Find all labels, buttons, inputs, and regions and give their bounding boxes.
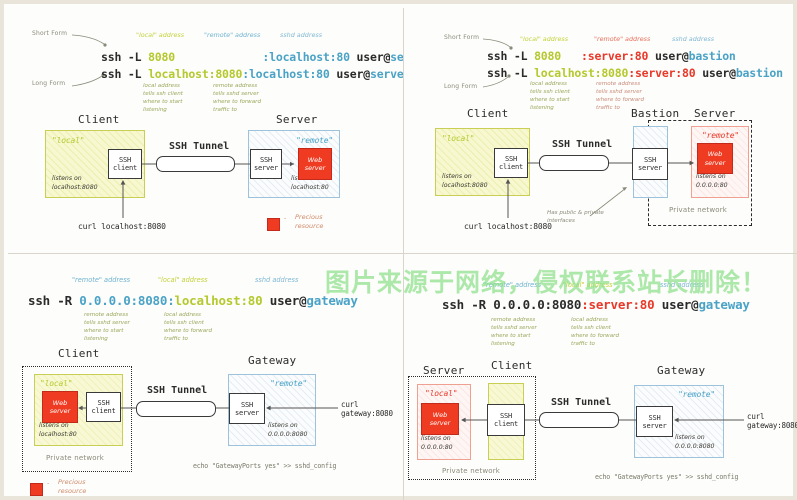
cmd-userat: user@ [350,50,390,64]
curl-command: curl gateway:8080 [747,412,797,430]
box-ssh-client: SSH client [494,148,528,178]
zone-label-remote: "remote" [270,379,307,388]
box-web-server-label: Web server [50,399,71,415]
curl-command: curl gateway:8080 [341,400,393,418]
diagram-sheet: Short Form Long Form "local" address "re… [4,4,793,496]
header-remote-address: "remote" address [483,281,541,291]
box-web-server-label: Web server [430,411,451,427]
zone-listen-remote: listens on 0.0.0.0:8080 [268,422,307,439]
tunnel-label: SSH Tunnel [551,397,611,408]
header-remote-address: "remote" address [594,35,650,44]
legend: - Precious resource [30,479,43,498]
node-title-client: Client [78,113,120,126]
header-local-address: "local" address [563,281,613,291]
box-ssh-client-label: SSH client [91,399,115,415]
zone-label-remote: "remote" [296,136,333,145]
gateway-ports-config-note: echo "GatewayPorts yes" >> sshd_config [595,473,738,481]
short-form-label: Short Form [444,34,479,42]
zone-label-local: "local" [40,379,72,388]
panel-divider-horizontal [8,253,797,254]
header-sshd-address: sshd address [255,276,298,286]
tunnel-label: SSH Tunnel [147,385,207,396]
node-title-server: Server [694,107,736,120]
zone-listen-local: listens on localhost:8080 [52,175,98,192]
annotation-remote-address: remote address tells sshd server where t… [84,311,130,343]
command-long-form: ssh -L localhost:8080:server:80 user@bas… [487,66,783,80]
box-web-server-label: Web server [705,150,726,166]
ssh-tunnel-pipe [156,156,235,172]
cmd-host: gateway [306,293,357,308]
box-ssh-client-label: SSH client [494,412,518,428]
annotation-local-address: local address tells ssh client where to … [164,311,212,343]
node-title-gateway: Gateway [657,364,705,377]
panel-divider-vertical [403,8,404,500]
cmd-remote: :server:80 [581,49,648,63]
cmd-host: server [390,50,403,64]
cmd-sep: : [581,297,588,312]
annotation-remote-address: remote address tells sshd server where t… [491,316,537,348]
box-web-server: Web server [42,391,78,423]
private-network-label: Private network [442,467,500,476]
ssh-tunnel-pipe [136,401,216,417]
cmd-gap [175,50,262,64]
cmd-remote: :localhost:80 [242,67,329,81]
header-remote-address: "remote" address [204,31,260,40]
panel-remote-forward-private-server: "remote" address "local" address sshd ad… [404,254,797,500]
cmd-local: localhost:8080 [534,66,628,80]
ssh-tunnel-pipe [539,155,609,171]
zone-listen-local: listens on localhost:8080 [442,173,488,190]
legend-label-line2: resource [58,487,86,496]
cmd-prefix: ssh -L [487,66,534,80]
annotation-local-address: local address tells ssh client where to … [530,80,570,112]
legend-swatch-precious-resource [30,483,43,496]
private-network-label: Private network [669,206,727,215]
cmd-local: localhost:8080 [148,67,242,81]
legend-dash: - [47,479,49,488]
box-ssh-client-label: SSH client [113,156,137,172]
zone-listen-remote: listens on 0.0.0.0:80 [696,173,728,190]
box-ssh-client: SSH client [487,404,525,436]
short-form-label: Short Form [32,30,67,38]
cmd-userat: user@ [262,293,306,308]
private-network-label: Private network [46,454,104,463]
cmd-local: server:80 [589,297,655,312]
long-form-label: Long Form [32,80,65,88]
node-title-client: Client [467,107,509,120]
cmd-userat: user@ [330,67,370,81]
gateway-ports-config-note: echo "GatewayPorts yes" >> sshd_config [193,462,336,470]
header-local-address: "local" address [520,35,568,44]
cmd-prefix: ssh -L [101,50,148,64]
box-web-server-label: Web server [305,156,326,172]
cmd-sep: : [167,293,174,308]
zone-label-local: "local" [425,389,457,398]
legend: - Precious resource [267,214,280,233]
panel-local-forward-bastion: Short Form Long Form "local" address "re… [404,8,797,253]
box-ssh-server: SSH server [250,149,282,179]
box-ssh-client: SSH client [86,392,121,422]
node-title-server: Server [276,113,318,126]
annotation-local-address: local address tells ssh client where to … [143,82,183,114]
cmd-host: gateway [698,297,749,312]
cmd-prefix: ssh -L [487,49,534,63]
tunnel-label: SSH Tunnel [552,139,612,150]
command-short-form: ssh -L 8080 :localhost:80 user@server [101,50,403,64]
cmd-local: 8080 [534,49,561,63]
annotation-remote-address: remote address tells sshd server where t… [213,82,261,114]
cmd-userat: user@ [654,297,698,312]
command-short-form: ssh -L 8080 [487,49,561,63]
box-web-server: Web server [697,143,733,174]
bastion-note: Has public & private interfaces [547,209,604,225]
header-sshd-address: sshd address [672,35,714,44]
cmd-prefix: ssh -L [101,67,148,81]
cmd-remote: 0.0.0.0:8080 [79,293,167,308]
zone-label-remote: "remote" [702,131,739,140]
command-remote-forward: ssh -R 0.0.0.0:8080:localhost:80 user@ga… [28,293,358,308]
zone-label-local: "local" [442,134,474,143]
cmd-userat: user@ [695,66,735,80]
cmd-local: localhost:80 [175,293,263,308]
cmd-host: server [370,67,403,81]
header-local-address: "local" address [136,31,184,40]
legend-swatch-precious-resource [267,218,280,231]
long-form-label: Long Form [444,83,477,91]
box-ssh-server: SSH server [636,406,673,437]
header-remote-address: "remote" address [72,276,130,286]
cmd-host: bastion [689,49,736,63]
cmd-local: 8080 [148,50,175,64]
curl-command: curl localhost:8080 [464,222,552,231]
panel-remote-forward-basic: "remote" address "local" address sshd ad… [8,254,403,500]
box-ssh-server-label: SSH server [254,156,278,172]
cmd-remote: 0.0.0.0:8080 [493,297,581,312]
box-ssh-server-label: SSH server [235,401,259,417]
header-sshd-address: sshd address [280,31,322,40]
command-long-form: ssh -L localhost:8080:localhost:80 user@… [101,67,403,81]
zone-listen-remote: listens on 0.0.0.0:8080 [675,434,714,451]
header-sshd-address: sshd address [660,281,703,291]
command-short-form-tail: :server:80 user@bastion [581,49,736,63]
node-title-client: Client [491,359,533,372]
legend-label-line1: Precious [295,213,322,222]
cmd-remote: :server:80 [628,66,695,80]
zone-label-local: "local" [52,136,84,145]
node-title-gateway: Gateway [248,354,296,367]
box-ssh-server: SSH server [632,148,668,180]
annotation-local-address: local address tells ssh client where to … [571,316,619,348]
header-local-address: "local" address [158,276,208,286]
legend-label-line2: resource [295,222,323,231]
command-remote-forward: ssh -R 0.0.0.0:8080:server:80 user@gatew… [442,297,750,312]
box-ssh-server-label: SSH server [642,414,666,430]
box-ssh-client: SSH client [108,149,142,179]
box-ssh-server: SSH server [229,393,265,424]
cmd-userat: user@ [648,49,688,63]
cmd-remote: :localhost:80 [262,50,349,64]
box-web-server: Web server [298,148,332,180]
zone-label-remote: "remote" [678,390,715,399]
legend-label-line1: Precious [58,478,85,487]
curl-command: curl localhost:8080 [78,222,166,231]
box-ssh-client-label: SSH client [499,155,523,171]
zone-listen-local: listens on localhost:80 [39,422,77,439]
tunnel-label: SSH Tunnel [169,141,229,152]
cmd-prefix: ssh -R [442,297,493,312]
zone-listen-local: listens on 0.0.0.0:80 [421,435,453,452]
legend-dash: - [284,214,286,223]
cmd-prefix: ssh -R [28,293,79,308]
cmd-host: bastion [736,66,783,80]
node-title-bastion: Bastion [631,107,679,120]
ssh-tunnel-pipe [539,412,619,428]
panel-local-forward-basic: Short Form Long Form "local" address "re… [8,8,403,253]
box-ssh-server-label: SSH server [638,156,662,172]
node-title-client: Client [58,347,100,360]
box-web-server: Web server [421,403,459,435]
